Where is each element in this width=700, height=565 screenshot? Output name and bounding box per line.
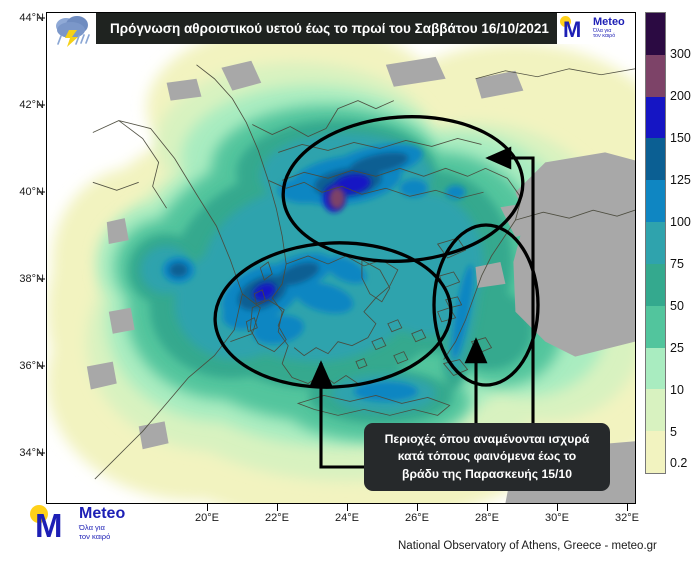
xtick-label: 30°E (545, 512, 569, 524)
precipitation-map[interactable]: Περιοχές όπου αναμένονται ισχυρά κατά τό… (46, 12, 636, 504)
attribution-text: National Observatory of Athens, Greece -… (398, 540, 657, 552)
ytick-mark (38, 453, 45, 454)
colorbar-cell (646, 264, 665, 306)
xtick-mark (557, 504, 558, 511)
xtick-mark (347, 504, 348, 511)
meteo-logo-name-bottom: Meteo (79, 506, 125, 522)
meteo-logo-top[interactable]: M Meteo Όλα για τον καιρό (557, 12, 636, 44)
colorbar-label: 200 (670, 89, 691, 103)
colorbar-cell (646, 180, 665, 222)
weather-forecast-figure: Περιοχές όπου αναμένονται ισχυρά κατά τό… (0, 0, 700, 565)
colorbar-cell (646, 431, 665, 473)
callout-line-3: βράδυ της Παρασκευής 15/10 (374, 466, 600, 483)
colorbar-cell (646, 13, 665, 55)
xtick-mark (207, 504, 208, 511)
meteo-logo-mark-top: M (560, 15, 590, 41)
xtick-mark (627, 504, 628, 511)
meteo-logo-tagline2-top: τον καιρό (593, 34, 625, 39)
meteo-logo-name-top: Meteo (593, 17, 625, 28)
colorbar-cell (646, 97, 665, 139)
forecast-annotation-callout: Περιοχές όπου αναμένονται ισχυρά κατά τό… (364, 423, 610, 491)
precipitation-colorbar[interactable] (645, 12, 666, 474)
colorbar-cell (646, 138, 665, 180)
xtick-mark (277, 504, 278, 511)
meteo-logo-mark-bottom: M (30, 503, 74, 543)
colorbar-label: 0.2 (670, 456, 687, 470)
meteo-logo-letter-bottom: M (35, 509, 63, 542)
colorbar-label: 10 (670, 383, 684, 397)
meteo-logo-letter-top: M (563, 19, 581, 41)
xtick-label: 20°E (195, 512, 219, 524)
meteo-logo-text-top: Meteo Όλα για τον καιρό (593, 17, 625, 40)
colorbar-label: 5 (670, 425, 677, 439)
xtick-label: 24°E (335, 512, 359, 524)
ytick-mark (38, 279, 45, 280)
ytick-mark (38, 192, 45, 193)
ytick-mark (38, 366, 45, 367)
meteo-logo-text-bottom: Meteo Όλα για τον καιρό (79, 506, 125, 540)
colorbar-label: 75 (670, 257, 684, 271)
colorbar-label: 25 (670, 341, 684, 355)
colorbar-label: 150 (670, 131, 691, 145)
xtick-label: 22°E (265, 512, 289, 524)
colorbar-cell (646, 222, 665, 264)
colorbar-label: 100 (670, 215, 691, 229)
colorbar-cell (646, 55, 665, 97)
xtick-label: 28°E (475, 512, 499, 524)
thunderstorm-icon (49, 13, 95, 51)
callout-line-2: κατά τόπους φαινόμενα έως το (374, 448, 600, 465)
ytick-mark (38, 105, 45, 106)
colorbar-label: 50 (670, 299, 684, 313)
map-title-banner: Πρόγνωση αθροιστικού υετού έως το πρωί τ… (96, 12, 563, 44)
map-title-text: Πρόγνωση αθροιστικού υετού έως το πρωί τ… (110, 21, 549, 36)
callout-line-1: Περιοχές όπου αναμένονται ισχυρά (374, 431, 600, 448)
meteo-logo-bottom[interactable]: M Meteo Όλα για τον καιρό (30, 500, 180, 546)
colorbar-cell (646, 306, 665, 348)
colorbar-label: 300 (670, 47, 691, 61)
colorbar-cell (646, 389, 665, 431)
colorbar-label: 125 (670, 173, 691, 187)
colorbar-cell (646, 348, 665, 390)
meteo-logo-tagline1-bottom: Όλα για (79, 524, 125, 532)
xtick-mark (487, 504, 488, 511)
xtick-label: 26°E (405, 512, 429, 524)
meteo-logo-tagline2-bottom: τον καιρό (79, 533, 125, 541)
ytick-mark (38, 18, 45, 19)
xtick-mark (417, 504, 418, 511)
xtick-label: 32°E (615, 512, 639, 524)
